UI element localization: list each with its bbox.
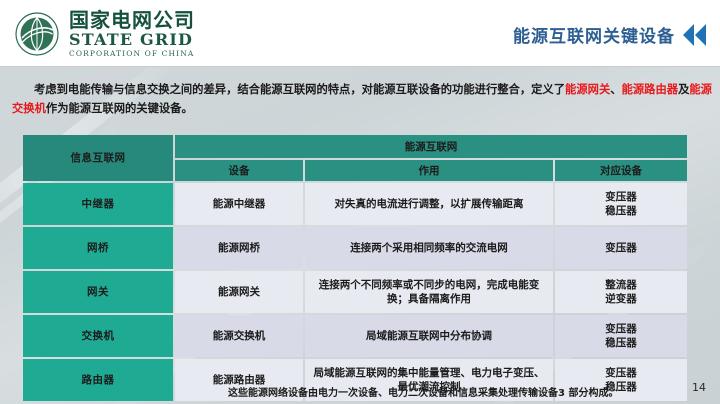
cell-corresponding: 变压器稳压器 — [555, 315, 687, 357]
table-row: 网关 能源网关 连接两个不同频率或不同步的电网，完成电能变换；具备隔离作用 整流… — [23, 271, 687, 313]
intro-text-part2: 作为能源互联网的关键设备。 — [46, 102, 193, 115]
cell-energy-device: 能源交换机 — [175, 315, 303, 357]
table-header-row-1: 信息互联网 能源互联网 — [23, 135, 687, 158]
comparison-table: 信息互联网 能源互联网 设备 作用 对应设备 中继器 能源中继器 对失真的电流进… — [21, 133, 689, 403]
comparison-table-wrapper: 信息互联网 能源互联网 设备 作用 对应设备 中继器 能源中继器 对失真的电流进… — [21, 133, 687, 403]
cell-energy-device: 能源中继器 — [175, 183, 303, 225]
intro-highlight-energy-router: 能源路由器 — [622, 83, 679, 96]
row-label-repeater: 中继器 — [23, 183, 173, 225]
cell-corresponding: 变压器稳压器 — [555, 183, 687, 225]
brand-subtitle-en: CORPORATION OF CHINA — [69, 50, 195, 58]
row-label-switch: 交换机 — [23, 315, 173, 357]
intro-paragraph: 考虑到电能传输与信息交换之间的差异，结合能源互联网的特点，对能源互联设备的功能进… — [12, 80, 712, 118]
state-grid-logo-icon — [14, 11, 60, 57]
slide-canvas: 国家电网公司 STATE GRID CORPORATION OF CHINA 能… — [0, 0, 720, 404]
header-title-group: 能源互联网关键设备 — [513, 22, 706, 47]
intro-text-part1: 考虑到电能传输与信息交换之间的差异，结合能源互联网的特点，对能源互联设备的功能进… — [34, 83, 565, 96]
table-group-header: 能源互联网 — [175, 135, 687, 158]
double-chevron-left-icon — [683, 24, 706, 46]
cell-function: 连接两个采用相同频率的交流电网 — [305, 227, 553, 269]
row-label-router: 路由器 — [23, 359, 173, 401]
cell-energy-device: 能源网桥 — [175, 227, 303, 269]
footer-note: 这些能源网络设备由电力一次设备、电力二次设备和信息采集处理传输设备3 部分构成。 — [228, 384, 618, 399]
cell-function: 对失真的电流进行调整，以扩展传输距离 — [305, 183, 553, 225]
table-subheader-device: 设备 — [175, 160, 303, 181]
brand-text-block: 国家电网公司 STATE GRID CORPORATION OF CHINA — [69, 10, 195, 58]
brand-lockup: 国家电网公司 STATE GRID CORPORATION OF CHINA — [14, 10, 195, 58]
table-row: 网桥 能源网桥 连接两个采用相同频率的交流电网 变压器 — [23, 227, 687, 269]
table-col1-header: 信息互联网 — [23, 135, 173, 181]
cell-corresponding: 变压器 — [555, 227, 687, 269]
table-subheader-corresponding: 对应设备 — [555, 160, 687, 181]
brand-name-cn: 国家电网公司 — [69, 10, 195, 30]
intro-separator-1: 、 — [610, 83, 621, 96]
row-label-bridge: 网桥 — [23, 227, 173, 269]
table-row: 交换机 能源交换机 局域能源互联网中分布协调 变压器稳压器 — [23, 315, 687, 357]
cell-corresponding: 整流器逆变器 — [555, 271, 687, 313]
page-number: 14 — [692, 381, 706, 394]
cell-function: 连接两个不同频率或不同步的电网，完成电能变换；具备隔离作用 — [305, 271, 553, 313]
intro-separator-2: 及 — [678, 83, 689, 96]
table-subheader-function: 作用 — [305, 160, 553, 181]
table-row: 中继器 能源中继器 对失真的电流进行调整，以扩展传输距离 变压器稳压器 — [23, 183, 687, 225]
row-label-gateway: 网关 — [23, 271, 173, 313]
brand-name-en: STATE GRID — [69, 32, 195, 48]
slide-header: 国家电网公司 STATE GRID CORPORATION OF CHINA 能… — [0, 0, 720, 67]
cell-function: 局域能源互联网中分布协调 — [305, 315, 553, 357]
page-title: 能源互联网关键设备 — [513, 22, 675, 47]
intro-highlight-energy-gateway: 能源网关 — [565, 83, 610, 96]
cell-energy-device: 能源网关 — [175, 271, 303, 313]
